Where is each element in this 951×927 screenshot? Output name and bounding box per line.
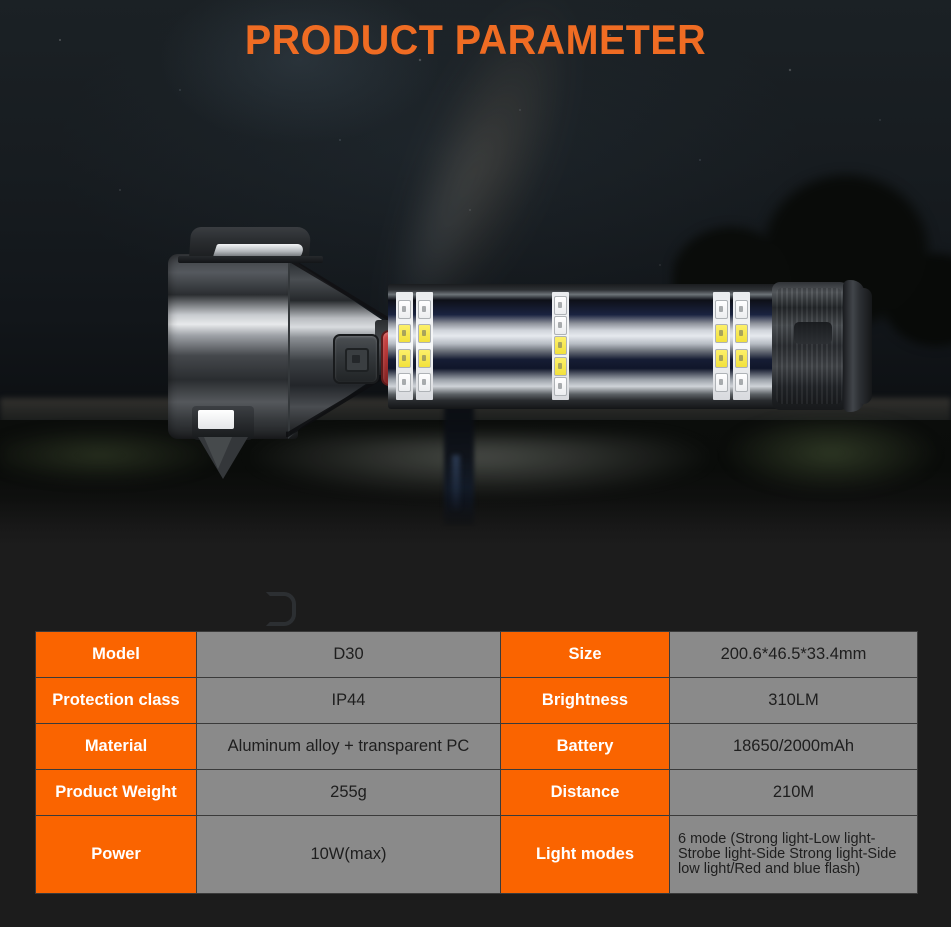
led-white	[554, 316, 567, 335]
led-column	[552, 292, 569, 400]
led-yellow	[715, 349, 728, 368]
spec-value-battery: 18650/2000mAh	[670, 724, 918, 770]
spec-label-distance: Distance	[501, 770, 670, 816]
spec-value-power: 10W(max)	[197, 816, 501, 894]
led-cluster-front	[396, 292, 433, 400]
spec-label-material: Material	[36, 724, 197, 770]
spec-label-product-weight: Product Weight	[36, 770, 197, 816]
led-yellow	[418, 324, 431, 343]
spec-value-material: Aluminum alloy + transparent PC	[197, 724, 501, 770]
table-row: Power 10W(max) Light modes 6 mode (Stron…	[36, 816, 918, 894]
product-parameter-page: PRODUCT PARAMETER	[0, 0, 951, 927]
glass-breaker-ring	[266, 592, 296, 626]
spec-value-distance: 210M	[670, 770, 918, 816]
body-tube-bottom-edge	[388, 400, 780, 409]
spec-value-protection-class: IP44	[197, 678, 501, 724]
table-row: Protection class IP44 Brightness 310LM	[36, 678, 918, 724]
led-cluster-rear	[713, 292, 750, 400]
led-yellow	[554, 357, 567, 376]
led-yellow	[398, 324, 411, 343]
led-white	[735, 300, 748, 319]
led-yellow	[715, 324, 728, 343]
glass-breaker-highlight	[198, 410, 234, 429]
led-column	[733, 292, 750, 400]
flashlight-product-image	[160, 222, 810, 487]
spec-value-light-modes: 6 mode (Strong light-Low light-Strobe li…	[670, 816, 918, 894]
spec-value-brightness: 310LM	[670, 678, 918, 724]
spec-label-battery: Battery	[501, 724, 670, 770]
mode-button[interactable]	[333, 334, 379, 384]
specification-table: Model D30 Size 200.6*46.5*33.4mm Protect…	[35, 631, 917, 894]
spec-label-size: Size	[501, 632, 670, 678]
spec-value-size: 200.6*46.5*33.4mm	[670, 632, 918, 678]
led-white	[398, 300, 411, 319]
led-white	[554, 377, 567, 396]
spec-label-power: Power	[36, 816, 197, 894]
led-yellow	[398, 349, 411, 368]
led-column	[713, 292, 730, 400]
mode-button-glyph	[345, 348, 369, 372]
led-white	[418, 300, 431, 319]
table-row: Product Weight 255g Distance 210M	[36, 770, 918, 816]
table-row: Material Aluminum alloy + transparent PC…	[36, 724, 918, 770]
tail-cap-groove	[794, 322, 832, 344]
led-column	[396, 292, 413, 400]
led-white	[554, 296, 567, 315]
pocket-clip-base	[178, 256, 323, 263]
spec-label-light-modes: Light modes	[501, 816, 670, 894]
led-white	[398, 373, 411, 392]
led-white	[418, 373, 431, 392]
page-title: PRODUCT PARAMETER	[29, 16, 923, 64]
mode-button-core	[352, 355, 360, 363]
led-white	[735, 373, 748, 392]
led-cluster-middle	[552, 292, 569, 400]
led-white	[715, 300, 728, 319]
tail-cap-ribs	[776, 288, 842, 404]
led-yellow	[418, 349, 431, 368]
spec-label-brightness: Brightness	[501, 678, 670, 724]
led-yellow	[554, 336, 567, 355]
table-row: Model D30 Size 200.6*46.5*33.4mm	[36, 632, 918, 678]
led-yellow	[735, 349, 748, 368]
tail-cap-end	[860, 288, 872, 404]
hero-bottom-fade	[0, 500, 951, 560]
spec-label-model: Model	[36, 632, 197, 678]
spec-value-model: D30	[197, 632, 501, 678]
led-white	[715, 373, 728, 392]
led-yellow	[735, 324, 748, 343]
spec-value-product-weight: 255g	[197, 770, 501, 816]
glass-breaker-tip-highlight	[204, 437, 232, 469]
spec-label-protection-class: Protection class	[36, 678, 197, 724]
led-column	[416, 292, 433, 400]
